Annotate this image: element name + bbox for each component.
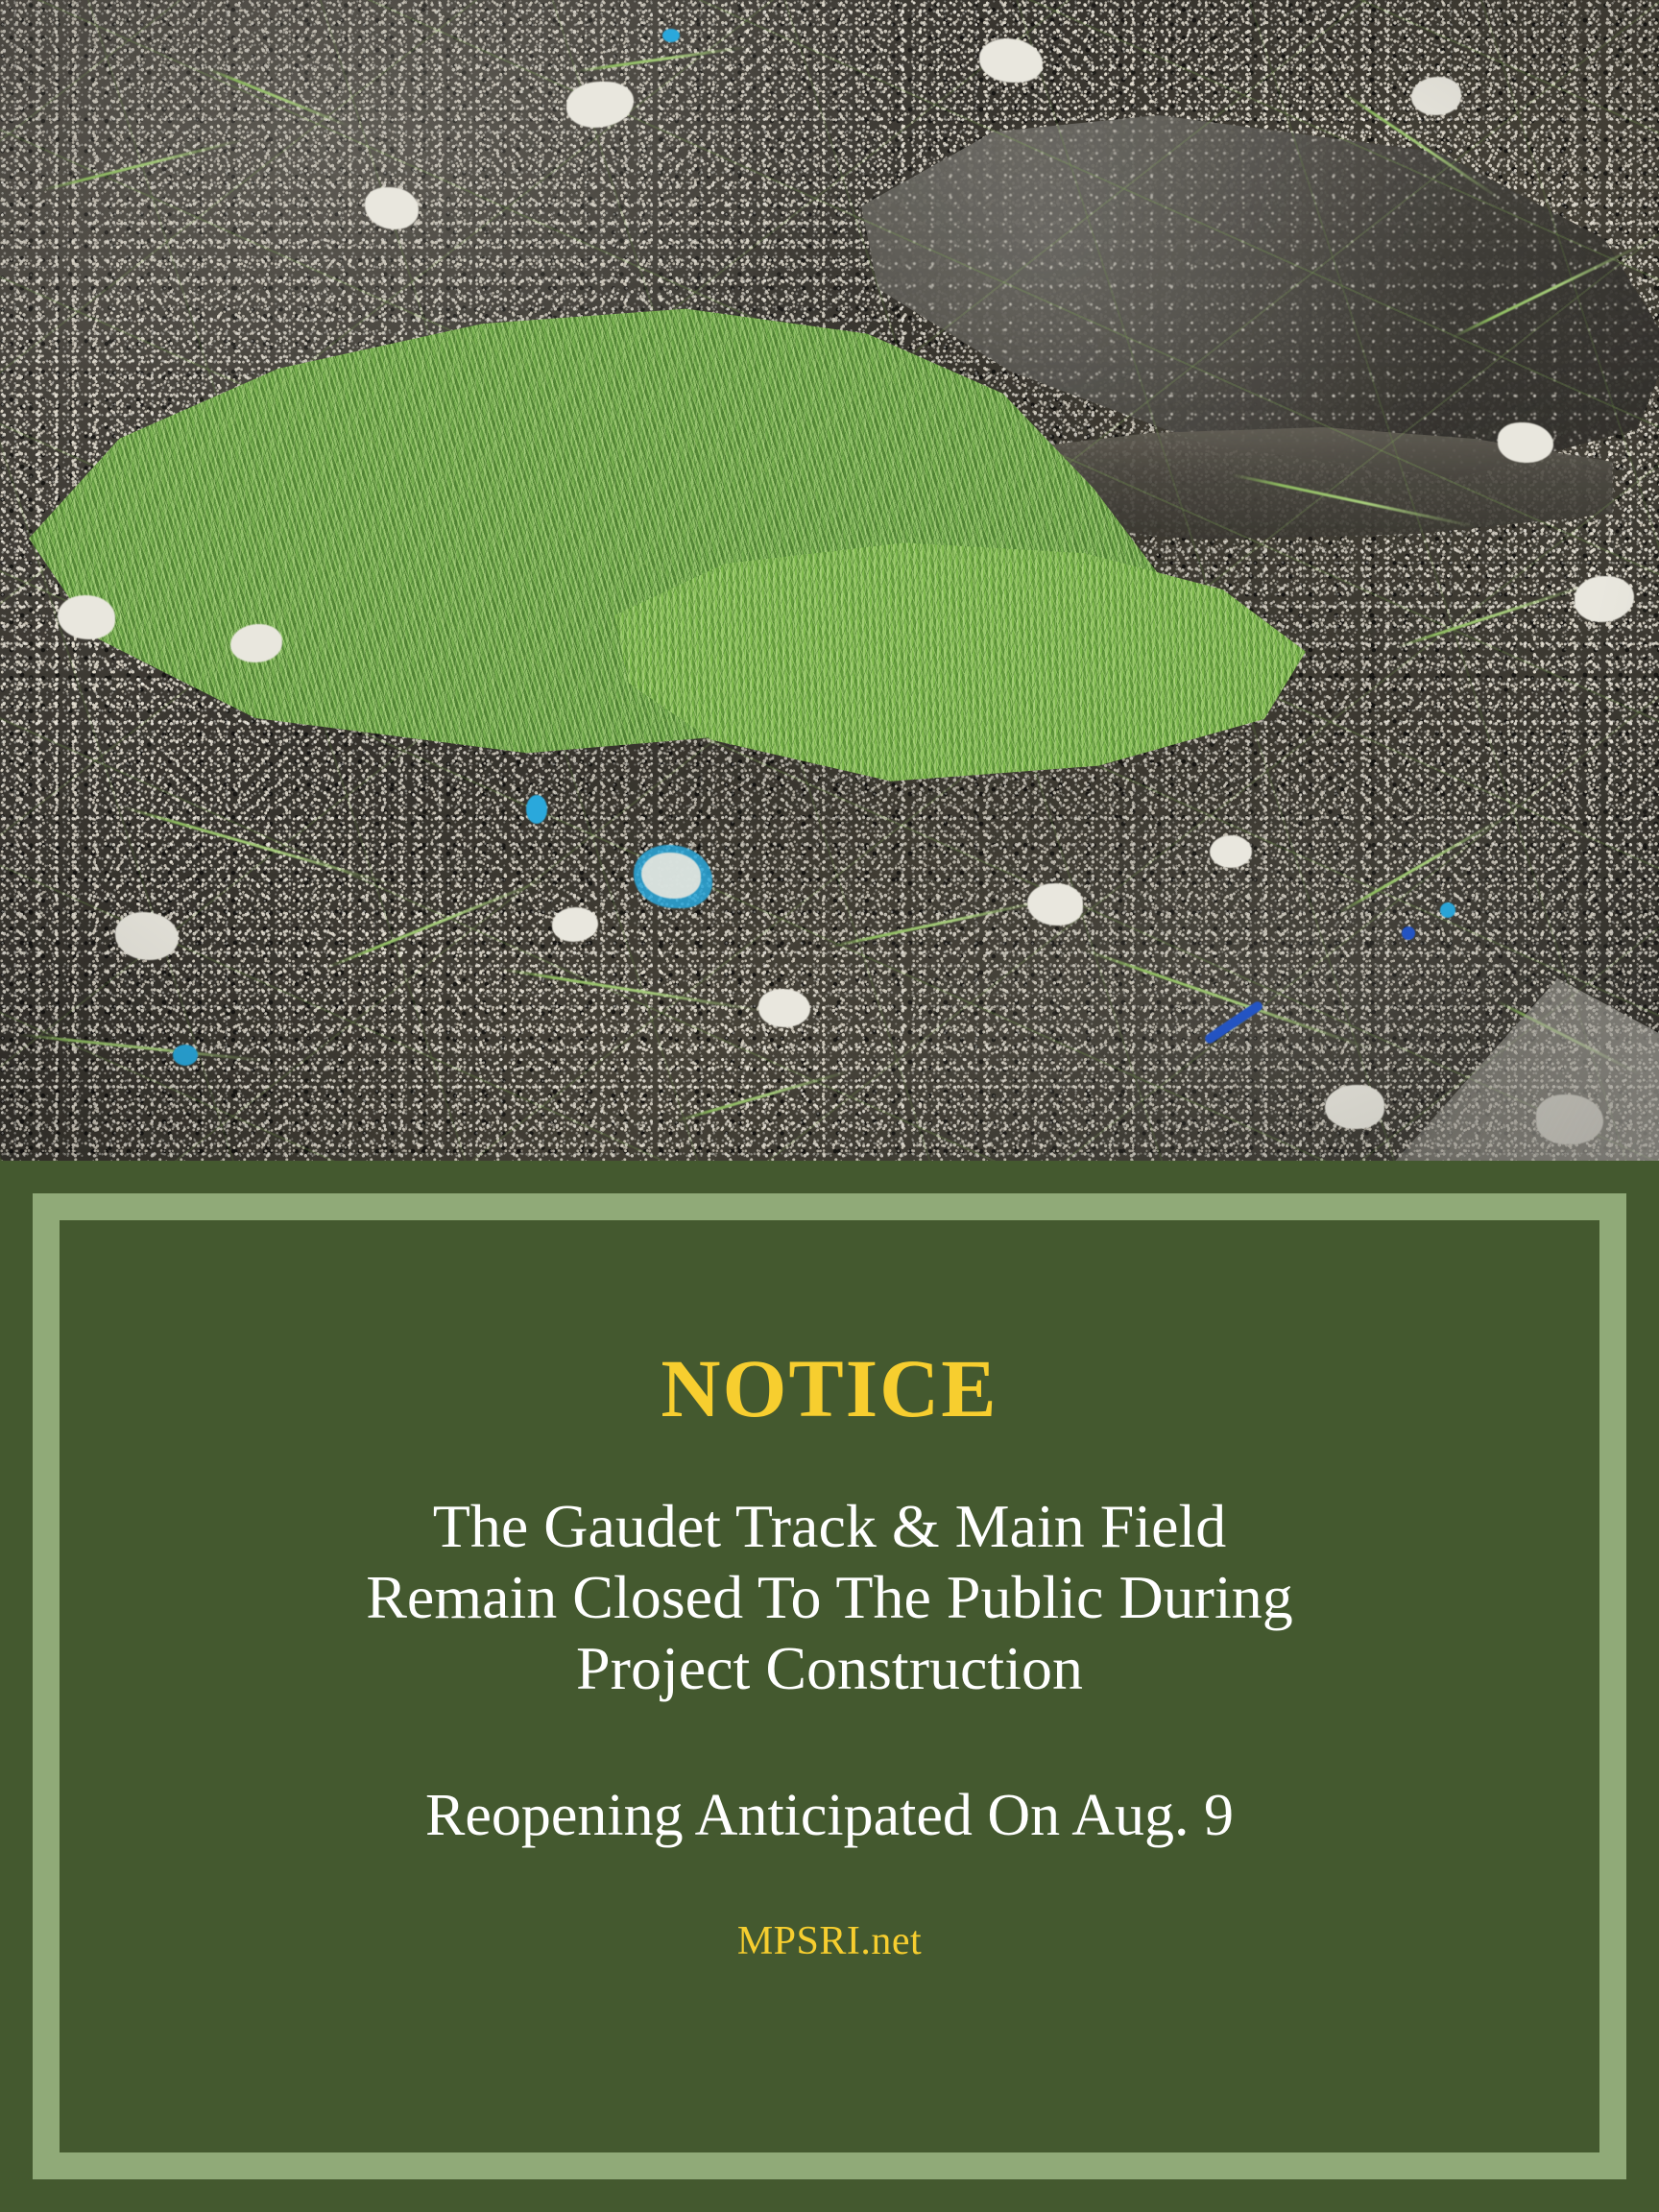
blue-debris-core (641, 853, 701, 899)
navy-debris (1402, 926, 1415, 940)
sand-chunk (1411, 77, 1461, 115)
loose-turf-fibers (0, 0, 1659, 1161)
notice-body: The Gaudet Track & Main Field Remain Clo… (366, 1491, 1293, 1705)
notice-frame-border: NOTICE The Gaudet Track & Main Field Rem… (33, 1193, 1626, 2179)
blue-debris (662, 29, 680, 42)
sand-chunk (758, 989, 810, 1027)
website-url[interactable]: MPSRI.net (737, 1918, 922, 1964)
sand-chunk (1210, 835, 1252, 868)
notice-body-line-1: The Gaudet Track & Main Field (366, 1491, 1293, 1562)
notice-poster: NOTICE The Gaudet Track & Main Field Rem… (0, 0, 1659, 2212)
sand-chunk (1325, 1085, 1384, 1129)
notice-panel: NOTICE The Gaudet Track & Main Field Rem… (0, 1161, 1659, 2212)
sand-chunk (58, 595, 115, 639)
blue-debris (1440, 902, 1455, 918)
blue-debris (173, 1045, 198, 1066)
turf-construction-photo (0, 0, 1659, 1161)
sand-chunk (230, 624, 282, 662)
notice-body-line-3: Project Construction (366, 1633, 1293, 1704)
reopening-date-text: Reopening Anticipated On Aug. 9 (425, 1780, 1234, 1851)
notice-body-line-2: Remain Closed To The Public During (366, 1562, 1293, 1633)
blue-debris (526, 795, 547, 824)
sand-chunk (1027, 883, 1083, 926)
sand-chunk (1498, 422, 1553, 463)
notice-title: NOTICE (661, 1347, 998, 1430)
notice-content: NOTICE The Gaudet Track & Main Field Rem… (60, 1220, 1599, 2152)
